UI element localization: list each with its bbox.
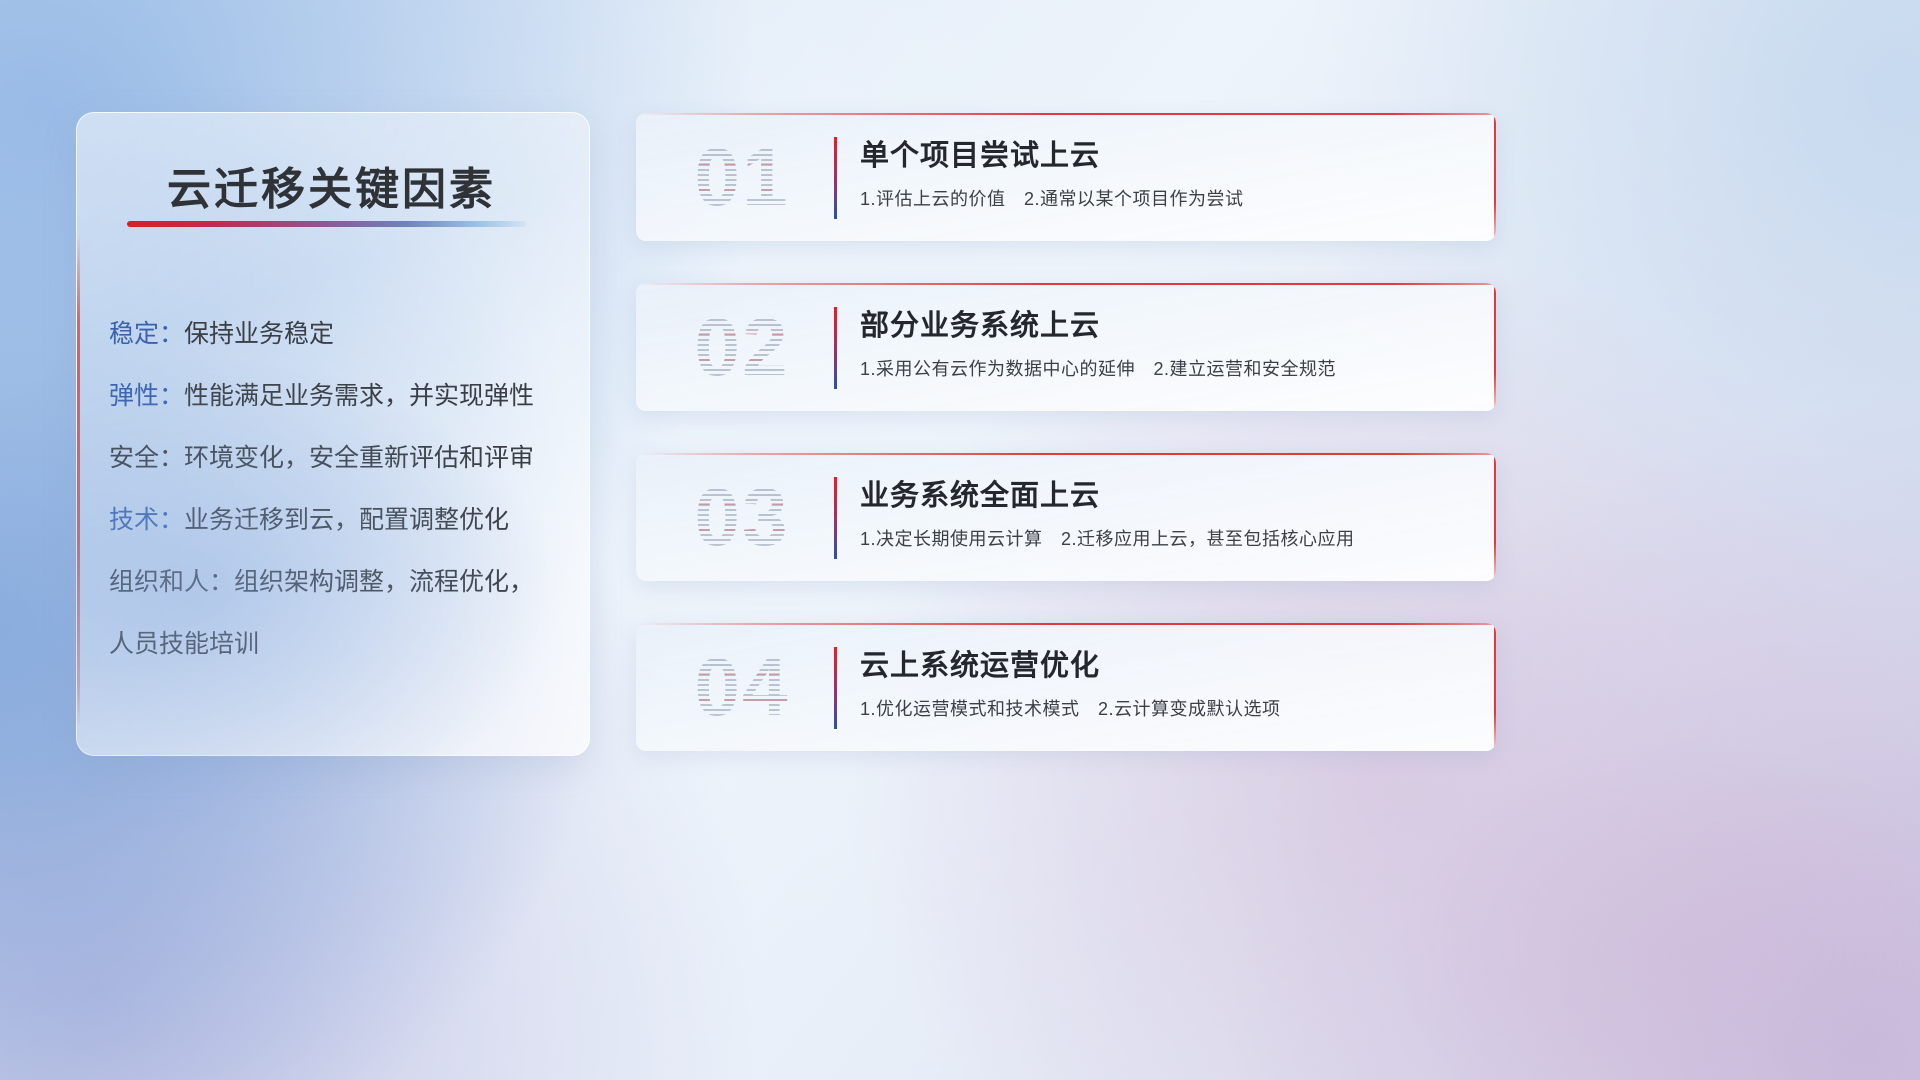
stage-card-02[interactable]: 02 02 部分业务系统上云 1.采用公有云作为数据中心的延伸 2.建立运营和安… [636,283,1496,411]
stage-subtitle: 1.决定长期使用云计算 2.迁移应用上云，甚至包括核心应用 [860,527,1476,551]
factor-text: 人员技能培训 [109,630,259,658]
factor-list: 稳定：保持业务稳定 弹性：性能满足业务需求，并实现弹性 安全：环境变化，安全重新… [109,303,565,675]
list-item: 安全：环境变化，安全重新评估和评审 [109,427,565,489]
stage-subtitle: 1.采用公有云作为数据中心的延伸 2.建立运营和安全规范 [860,357,1476,381]
factor-text: 业务迁移到云，配置调整优化 [184,506,509,534]
stage-title: 单个项目尝试上云 [860,137,1476,175]
card-top-accent-line [636,623,1496,625]
card-body: 业务系统全面上云 1.决定长期使用云计算 2.迁移应用上云，甚至包括核心应用 [860,477,1476,551]
factor-label: 弹性： [109,382,184,410]
card-divider-bar [834,647,837,729]
card-divider-bar [834,477,837,559]
card-body: 部分业务系统上云 1.采用公有云作为数据中心的延伸 2.建立运营和安全规范 [860,307,1476,381]
panel-left-accent-bar [77,233,80,727]
list-item: 人员技能培训 [109,613,565,675]
page-title: 云迁移关键因素 [167,153,496,217]
list-item: 弹性：性能满足业务需求，并实现弹性 [109,365,565,427]
stage-title: 业务系统全面上云 [860,477,1476,515]
list-item: 稳定：保持业务稳定 [109,303,565,365]
card-divider-bar [834,307,837,389]
key-factors-panel: 云迁移关键因素 稳定：保持业务稳定 弹性：性能满足业务需求，并实现弹性 安全：环… [76,112,590,756]
card-right-accent-line [1494,113,1496,241]
factor-label: 稳定： [109,320,184,348]
card-top-accent-line [636,113,1496,115]
list-item: 技术：业务迁移到云，配置调整优化 [109,489,565,551]
stage-card-03[interactable]: 03 03 业务系统全面上云 1.决定长期使用云计算 2.迁移应用上云，甚至包括… [636,453,1496,581]
stage-card-04[interactable]: 04 04 云上系统运营优化 1.优化运营模式和技术模式 2.云计算变成默认选项 [636,623,1496,751]
factor-label: 安全： [109,444,184,472]
stage-number-red-overlay: 03 [662,469,822,567]
factor-label: 组织和人： [109,568,234,596]
factor-text: 性能满足业务需求，并实现弹性 [184,382,534,410]
card-top-accent-line [636,283,1496,285]
card-body: 单个项目尝试上云 1.评估上云的价值 2.通常以某个项目作为尝试 [860,137,1476,211]
card-right-accent-line [1494,283,1496,411]
list-item: 组织和人：组织架构调整，流程优化， [109,551,565,613]
title-underline-gradient [127,221,527,227]
stage-title: 部分业务系统上云 [860,307,1476,345]
stage-card-list: 01 01 单个项目尝试上云 1.评估上云的价值 2.通常以某个项目作为尝试 0… [636,113,1496,793]
stage-number-red-overlay: 04 [662,639,822,737]
stage-card-01[interactable]: 01 01 单个项目尝试上云 1.评估上云的价值 2.通常以某个项目作为尝试 [636,113,1496,241]
card-top-accent-line [636,453,1496,455]
stage-number-red-overlay: 01 [662,129,822,227]
stage-subtitle: 1.优化运营模式和技术模式 2.云计算变成默认选项 [860,697,1476,721]
stage-title: 云上系统运营优化 [860,647,1476,685]
stage-subtitle: 1.评估上云的价值 2.通常以某个项目作为尝试 [860,187,1476,211]
factor-label: 技术： [109,506,184,534]
factor-text: 保持业务稳定 [184,320,334,348]
stage-number-red-overlay: 02 [662,299,822,397]
factor-text: 环境变化，安全重新评估和评审 [184,444,534,472]
card-right-accent-line [1494,453,1496,581]
card-divider-bar [834,137,837,219]
card-body: 云上系统运营优化 1.优化运营模式和技术模式 2.云计算变成默认选项 [860,647,1476,721]
card-right-accent-line [1494,623,1496,751]
factor-text: 组织架构调整，流程优化， [234,568,534,596]
slide-canvas: 云迁移关键因素 稳定：保持业务稳定 弹性：性能满足业务需求，并实现弹性 安全：环… [0,0,1920,1080]
